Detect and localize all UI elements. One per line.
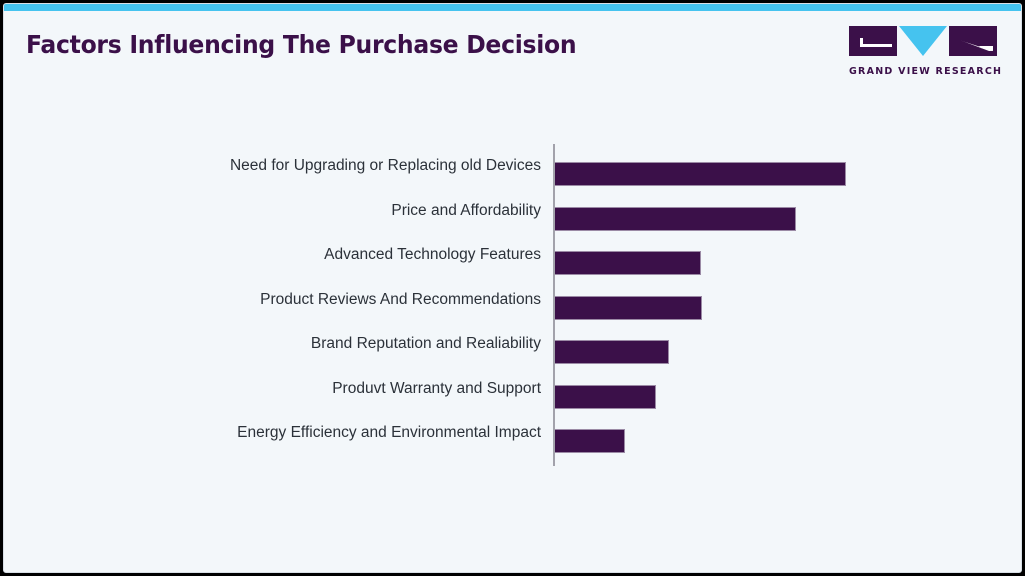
bar-segment [555,207,796,231]
logo-g-mark-icon [849,26,897,56]
logo-marks [849,26,997,62]
category-label: Brand Reputation and Realiability [311,335,541,353]
bar-segment [555,340,669,364]
logo-brand-text: GRAND VIEW RESEARCH [849,66,997,77]
category-label: Need for Upgrading or Replacing old Devi… [230,157,541,175]
chart-row: Energy Efficiency and Environmental Impa… [4,411,1022,456]
bar-segment [555,385,656,409]
category-label: Price and Affordability [391,202,541,220]
category-label: Product Reviews And Recommendations [260,291,541,309]
bar-segment [555,429,625,453]
page-title: Factors Influencing The Purchase Decisio… [26,30,576,59]
top-accent-bar [4,4,1021,11]
bar-segment [555,296,702,320]
slide-canvas: Factors Influencing The Purchase Decisio… [3,3,1022,573]
bar-segment [555,251,701,275]
category-label: Energy Efficiency and Environmental Impa… [237,424,541,442]
logo-triangle-icon [899,26,947,56]
chart-row: Produvt Warranty and Support [4,367,1022,412]
bar-chart: Need for Upgrading or Replacing old Devi… [4,144,1022,474]
logo-r-wedge-shape [959,37,993,51]
bar-segment [555,162,846,186]
chart-row: Need for Upgrading or Replacing old Devi… [4,144,1022,189]
chart-row: Price and Affordability [4,189,1022,234]
logo-g-bar [860,44,892,47]
category-label: Advanced Technology Features [324,246,541,264]
logo-r-mark-icon [949,26,997,56]
chart-row: Product Reviews And Recommendations [4,278,1022,323]
category-label: Produvt Warranty and Support [332,380,541,398]
chart-row: Advanced Technology Features [4,233,1022,278]
chart-row: Brand Reputation and Realiability [4,322,1022,367]
brand-logo: GRAND VIEW RESEARCH [849,26,997,77]
